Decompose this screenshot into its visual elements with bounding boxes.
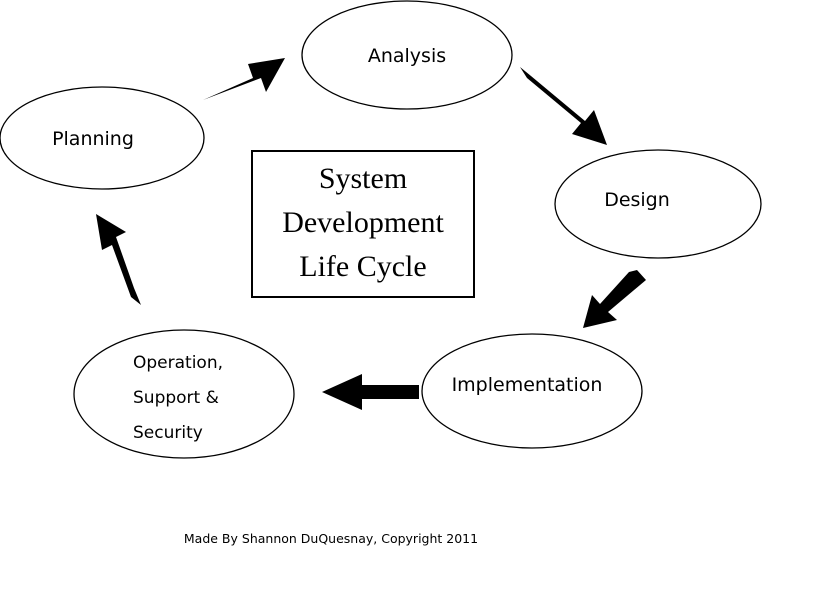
arrow-up-right-shape <box>203 58 285 100</box>
arrow-planning-to-analysis <box>203 58 285 100</box>
center-title-line-1: System <box>319 162 407 195</box>
credit-line: Made By Shannon DuQuesnay, Copyright 201… <box>184 531 478 546</box>
operation-label-line-3: Security <box>133 423 203 443</box>
center-title-line-3: Life Cycle <box>299 250 426 283</box>
operation-label-line-1: Operation, <box>133 353 223 373</box>
arrow-operation-to-planning <box>96 214 141 305</box>
node-analysis[interactable]: Analysis <box>302 1 512 109</box>
arrow-left-shape <box>322 374 419 410</box>
operation-label-line-2: Support & <box>133 388 219 408</box>
node-planning[interactable]: Planning <box>0 87 204 189</box>
planning-label: Planning <box>52 128 134 150</box>
node-implementation[interactable]: Implementation <box>422 334 642 448</box>
center-title-box: System Development Life Cycle <box>252 151 474 297</box>
arrow-up-left-shape <box>96 214 141 305</box>
design-label: Design <box>604 189 670 211</box>
center-title-line-2: Development <box>282 206 444 239</box>
diagram-canvas: Analysis Planning Design Implementation … <box>0 0 819 597</box>
arrow-analysis-to-design <box>520 67 607 145</box>
node-design[interactable]: Design <box>555 150 761 258</box>
arrow-down-left-shape <box>583 270 646 328</box>
implementation-label: Implementation <box>452 374 603 396</box>
arrow-down-right-shape <box>520 67 607 145</box>
arrow-design-to-implementation <box>583 270 646 328</box>
node-operation-support-security[interactable]: Operation, Support & Security <box>74 330 294 458</box>
sdlc-cycle-diagram: Analysis Planning Design Implementation … <box>0 0 819 597</box>
analysis-label: Analysis <box>368 45 446 67</box>
arrow-implementation-to-operation <box>322 374 419 410</box>
